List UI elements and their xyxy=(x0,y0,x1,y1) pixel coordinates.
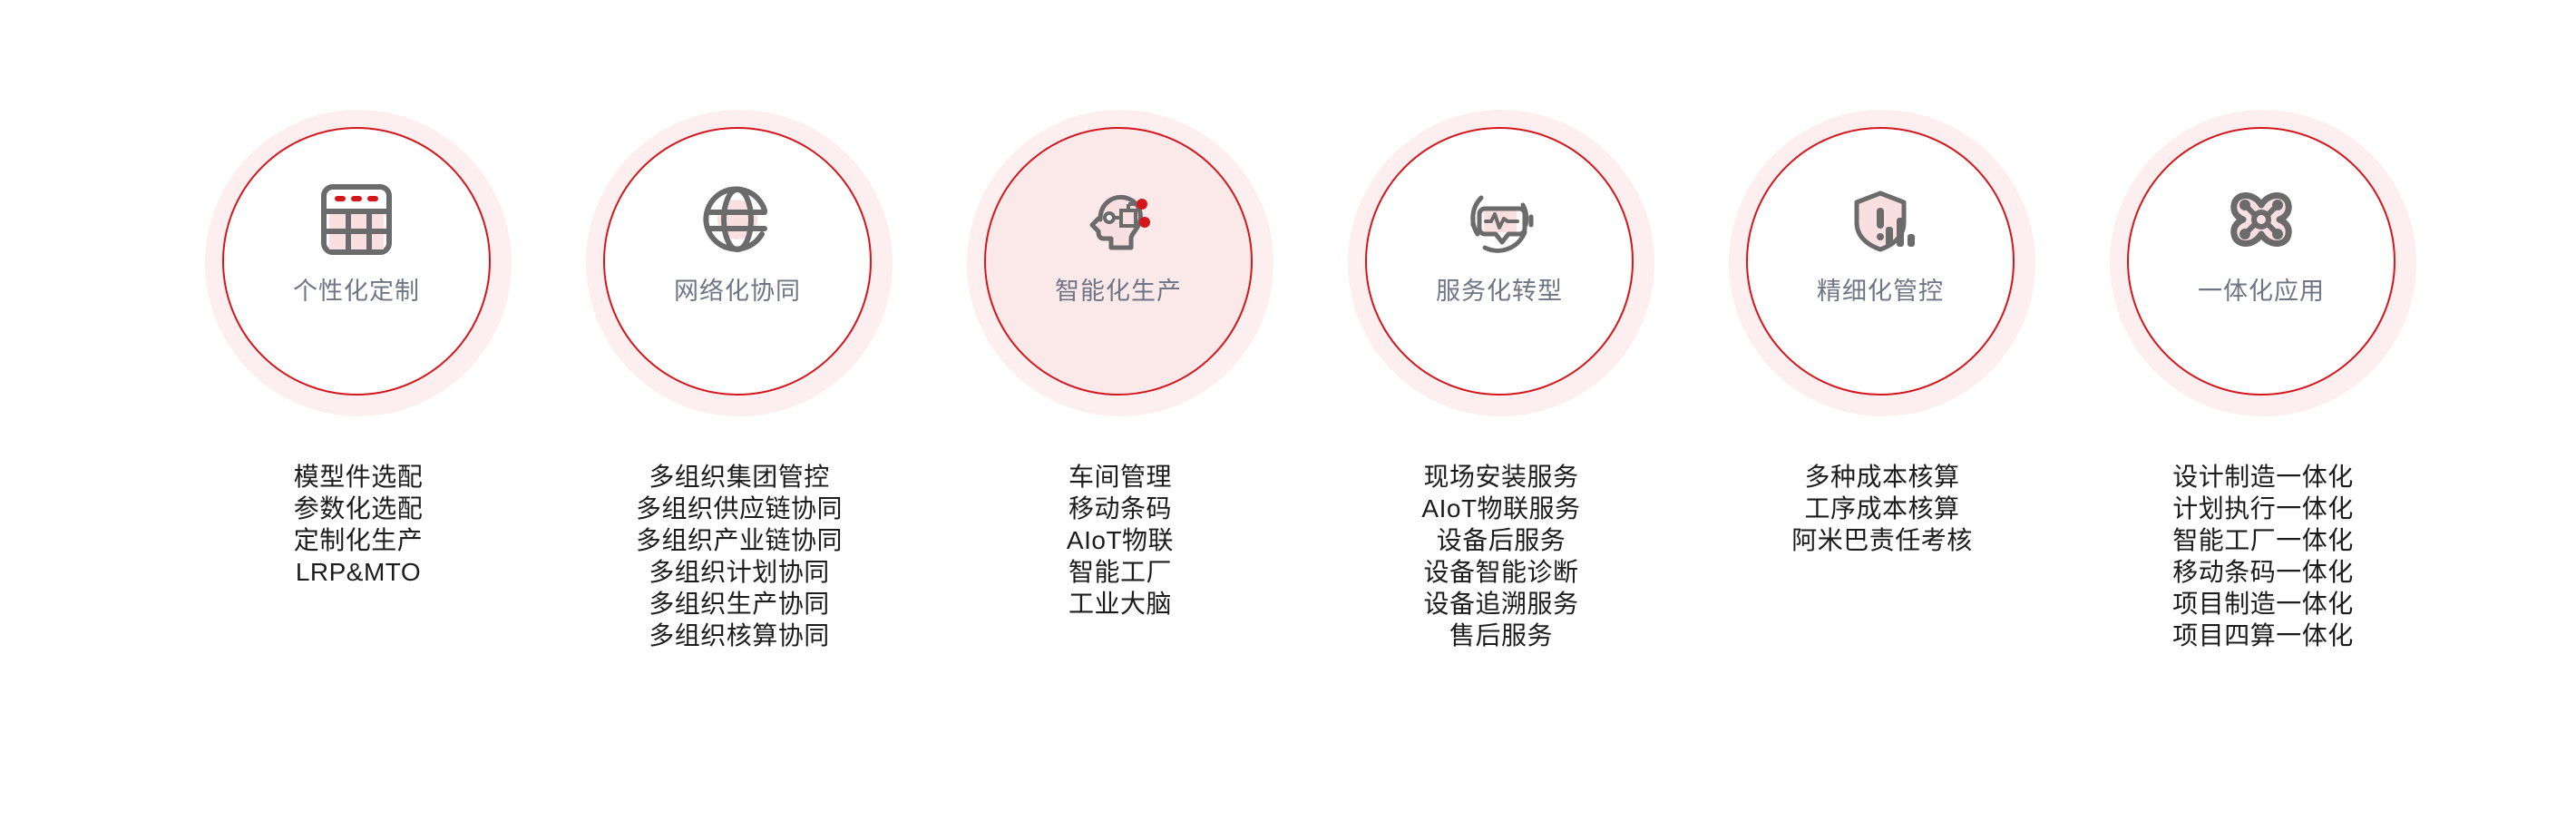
column-refined-management: 精细化管控 多种成本核算 工序成本核算 阿米巴责任考核 xyxy=(1692,0,2073,840)
list-item: 参数化选配 xyxy=(168,493,549,524)
circle-wrap-personalized-customization: 个性化定制 xyxy=(222,127,494,399)
ai-head-icon xyxy=(1075,176,1162,263)
circle-label: 一体化应用 xyxy=(2198,278,2325,305)
list-item: 智能工厂 xyxy=(930,556,1311,588)
circle-wrap-networked-collaboration: 网络化协同 xyxy=(603,127,875,399)
list-item: 多组织产业链协同 xyxy=(549,524,930,556)
column-networked-collaboration: 网络化协同 多组织集团管控 多组织供应链协同 多组织产业链协同 多组织计划协同 … xyxy=(549,0,930,840)
list-item: 设备后服务 xyxy=(1311,524,1692,556)
circle-personalized-customization[interactable]: 个性化定制 xyxy=(222,127,491,396)
list-item: 项目四算一体化 xyxy=(2073,620,2454,651)
circle-label: 智能化生产 xyxy=(1055,278,1182,305)
list-item: 多组织计划协同 xyxy=(549,556,930,588)
feature-list-integrated-application: 设计制造一体化 计划执行一体化 智能工厂一体化 移动条码一体化 项目制造一体化 … xyxy=(2073,461,2454,651)
feature-list-personalized-customization: 模型件选配 参数化选配 定制化生产 LRP&MTO xyxy=(168,461,549,588)
list-item: AIoT物联 xyxy=(930,524,1311,556)
list-item: 工序成本核算 xyxy=(1692,493,2073,524)
atom-icon xyxy=(2218,176,2305,263)
list-item: 项目制造一体化 xyxy=(2073,588,2454,620)
column-intelligent-production: 智能化生产 车间管理 移动条码 AIoT物联 智能工厂 工业大脑 xyxy=(930,0,1311,840)
feature-list-intelligent-production: 车间管理 移动条码 AIoT物联 智能工厂 工业大脑 xyxy=(930,461,1311,620)
list-item: 多组织供应链协同 xyxy=(549,493,930,524)
list-item: 设计制造一体化 xyxy=(2073,461,2454,493)
circle-wrap-service-transformation: 服务化转型 xyxy=(1365,127,1637,399)
circle-wrap-integrated-application: 一体化应用 xyxy=(2127,127,2399,399)
feature-list-service-transformation: 现场安装服务 AIoT物联服务 设备后服务 设备智能诊断 设备追溯服务 售后服务 xyxy=(1311,461,1692,651)
list-item: 定制化生产 xyxy=(168,524,549,556)
circle-wrap-refined-management: 精细化管控 xyxy=(1746,127,2018,399)
service-pulse-icon xyxy=(1456,176,1543,263)
list-item: 多组织生产协同 xyxy=(549,588,930,620)
list-item: 移动条码一体化 xyxy=(2073,556,2454,588)
list-item: 设备追溯服务 xyxy=(1311,588,1692,620)
column-service-transformation: 服务化转型 现场安装服务 AIoT物联服务 设备后服务 设备智能诊断 设备追溯服… xyxy=(1311,0,1692,840)
capability-diagram: 个性化定制 模型件选配 参数化选配 定制化生产 LRP&MTO xyxy=(0,0,2576,840)
grid-table-icon xyxy=(313,176,400,263)
list-item: 阿米巴责任考核 xyxy=(1692,524,2073,556)
list-item: 智能工厂一体化 xyxy=(2073,524,2454,556)
circle-wrap-intelligent-production: 智能化生产 xyxy=(984,127,1256,399)
circle-label: 个性化定制 xyxy=(293,278,420,305)
list-item: 设备智能诊断 xyxy=(1311,556,1692,588)
circle-refined-management[interactable]: 精细化管控 xyxy=(1746,127,2015,396)
list-item: 多组织集团管控 xyxy=(549,461,930,493)
list-item: 模型件选配 xyxy=(168,461,549,493)
circle-label: 精细化管控 xyxy=(1817,278,1944,305)
list-item: 售后服务 xyxy=(1311,620,1692,651)
list-item: LRP&MTO xyxy=(168,556,549,588)
list-item: 多种成本核算 xyxy=(1692,461,2073,493)
list-item: 计划执行一体化 xyxy=(2073,493,2454,524)
circle-service-transformation[interactable]: 服务化转型 xyxy=(1365,127,1634,396)
circle-networked-collaboration[interactable]: 网络化协同 xyxy=(603,127,872,396)
circle-intelligent-production[interactable]: 智能化生产 xyxy=(984,127,1253,396)
circle-integrated-application[interactable]: 一体化应用 xyxy=(2127,127,2395,396)
list-item: AIoT物联服务 xyxy=(1311,493,1692,524)
shield-chart-icon xyxy=(1837,176,1924,263)
column-integrated-application: 一体化应用 设计制造一体化 计划执行一体化 智能工厂一体化 移动条码一体化 项目… xyxy=(2073,0,2454,840)
column-personalized-customization: 个性化定制 模型件选配 参数化选配 定制化生产 LRP&MTO xyxy=(168,0,549,840)
list-item: 车间管理 xyxy=(930,461,1311,493)
list-item: 现场安装服务 xyxy=(1311,461,1692,493)
list-item: 工业大脑 xyxy=(930,588,1311,620)
circle-label: 网络化协同 xyxy=(674,278,801,305)
circle-label: 服务化转型 xyxy=(1436,278,1563,305)
list-item: 多组织核算协同 xyxy=(549,620,930,651)
feature-list-refined-management: 多种成本核算 工序成本核算 阿米巴责任考核 xyxy=(1692,461,2073,556)
globe-icon xyxy=(694,176,781,263)
feature-list-networked-collaboration: 多组织集团管控 多组织供应链协同 多组织产业链协同 多组织计划协同 多组织生产协… xyxy=(549,461,930,651)
list-item: 移动条码 xyxy=(930,493,1311,524)
